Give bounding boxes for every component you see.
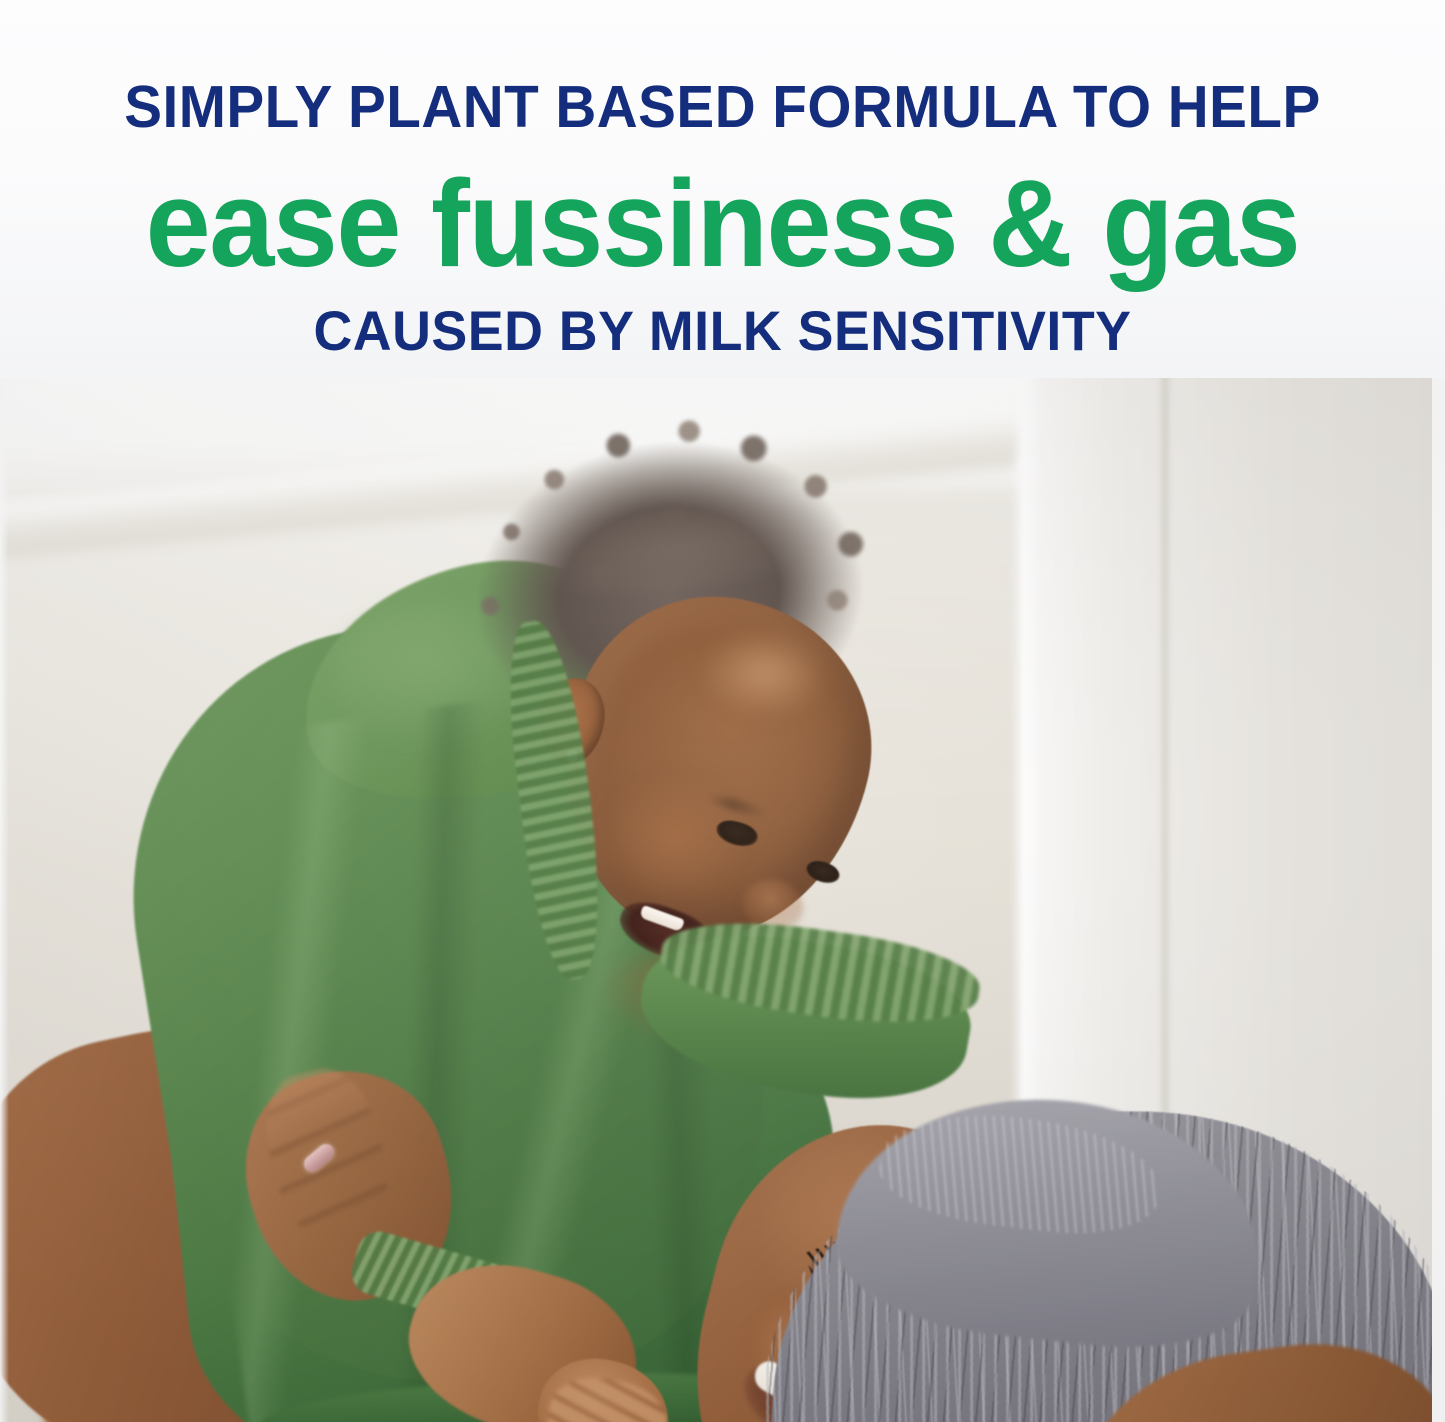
- photo-right-margin: [1432, 370, 1445, 1422]
- headline-block: SIMPLY PLANT BASED FORMULA TO HELP ease …: [0, 0, 1445, 378]
- headline-subline: CAUSED BY MILK SENSITIVITY: [29, 303, 1416, 359]
- headline-eyebrow: SIMPLY PLANT BASED FORMULA TO HELP: [29, 78, 1416, 137]
- banner-root: SIMPLY PLANT BASED FORMULA TO HELP ease …: [0, 0, 1445, 1422]
- photo-left-margin: [0, 370, 9, 1422]
- headline-main: ease fussiness & gas: [36, 163, 1409, 286]
- baby-forehead-highlight: [700, 628, 830, 718]
- lifestyle-photo: [0, 370, 1445, 1422]
